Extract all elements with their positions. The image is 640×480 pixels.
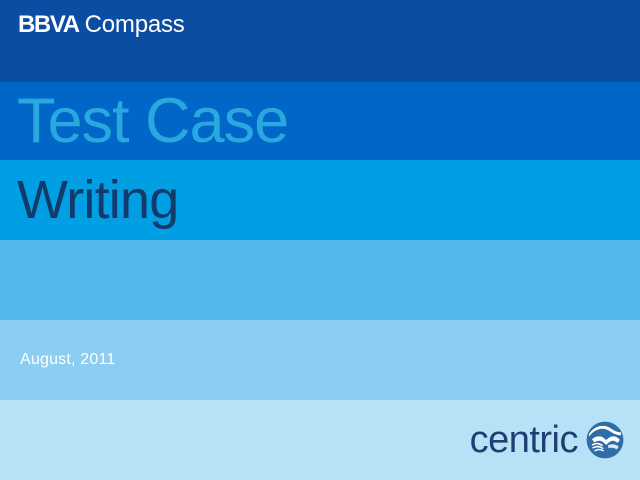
blank-band — [0, 240, 640, 320]
compass-wordmark: Compass — [85, 13, 185, 37]
slide-date: August, 2011 — [20, 320, 116, 400]
handshake-circle-icon — [586, 421, 624, 459]
title-slide: BBVA Compass Test Case Writing August, 2… — [0, 0, 640, 480]
slide-title: Test Case — [17, 82, 288, 160]
slide-subtitle: Writing — [17, 160, 178, 240]
centric-wordmark: centric — [470, 421, 578, 459]
centric-logo: centric — [470, 400, 624, 480]
bbva-compass-logo: BBVA Compass — [18, 13, 185, 37]
bbva-wordmark: BBVA — [18, 13, 79, 37]
